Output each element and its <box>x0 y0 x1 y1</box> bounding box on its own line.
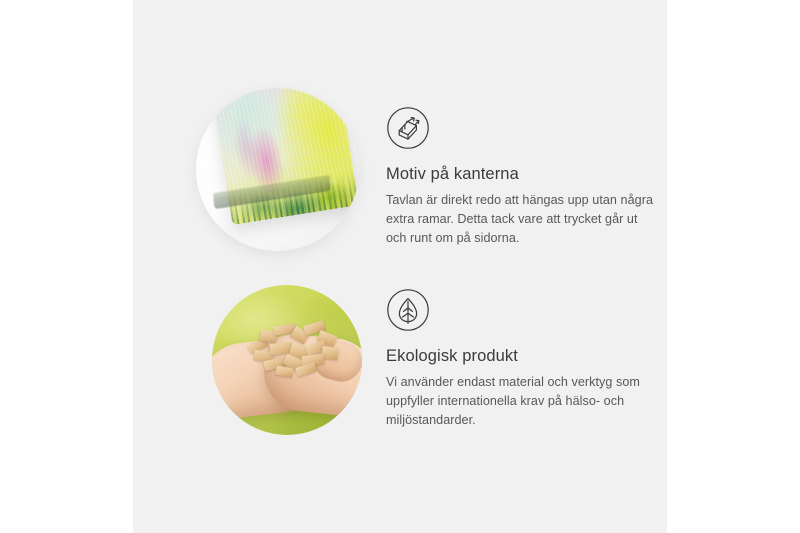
photo-clip <box>196 88 359 251</box>
feature-description: Vi använder endast material och verktyg … <box>386 373 656 430</box>
feature-title: Ekologisk produkt <box>386 346 656 367</box>
canvas-wrapped-edges-icon <box>386 106 430 150</box>
canvas-corner-photo <box>196 88 359 251</box>
feature-eco: Ekologisk produkt Vi använder endast mat… <box>386 288 656 430</box>
feature-title: Motiv på kanterna <box>386 164 656 185</box>
hands-wood-chips-photo <box>212 285 362 435</box>
feature-edges: Motiv på kanterna Tavlan är direkt redo … <box>386 106 656 248</box>
leaf-icon <box>386 288 430 332</box>
product-feature-graphic: Motiv på kanterna Tavlan är direkt redo … <box>0 0 800 533</box>
feature-description: Tavlan är direkt redo att hängas upp uta… <box>386 191 656 248</box>
wood-chips-pile <box>246 323 340 375</box>
content-panel <box>133 0 667 533</box>
